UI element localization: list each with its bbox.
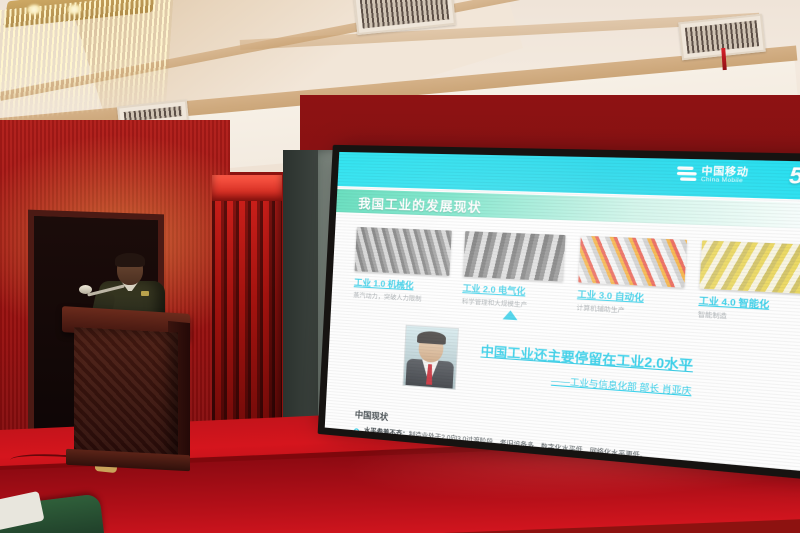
era-thumbnail-3 [578,236,687,288]
era-thumbnail-1 [355,227,452,276]
quote-text: 中国工业还主要停留在工业2.0水平 [480,340,693,375]
speaker-hair [115,253,145,267]
conference-hall-photo: 中国移动 China Mobile 5G+ 我国工业的发展现状 工业 1.0 机… [0,0,800,533]
current-level-arrow-icon [503,310,518,320]
slide-title: 我国工业的发展现状 [358,193,483,216]
five-g-text: 5G [788,163,800,190]
curtain-valance [212,175,282,201]
presentation-slide: 中国移动 China Mobile 5G+ 我国工业的发展现状 工业 1.0 机… [325,152,800,473]
era-item-4: 工业 4.0 智能化 智能制造 [698,240,800,325]
official-portrait [402,325,459,390]
china-mobile-logo: 中国移动 China Mobile [676,164,749,187]
projection-screen: 中国移动 China Mobile 5G+ 我国工业的发展现状 工业 1.0 机… [325,152,800,473]
era-item-3: 工业 3.0 自动化 计算机辅助生产 [576,236,686,319]
era-item-2: 工业 2.0 电气化 科学管理和大规模生产 [462,231,566,311]
uniform-insignia [141,291,149,296]
china-mobile-mark-icon [676,164,697,185]
era-thumbnail-2 [463,231,566,282]
quote-attribution: ——工业与信息化部 部长 肖亚庆 [479,369,692,398]
brand-name-en: China Mobile [701,177,749,184]
column-shadow [283,150,319,450]
microphone-head [79,285,92,294]
era-item-1: 工业 1.0 机械化 蒸汽动力，突破人力限制 [353,227,452,305]
five-g-badge: 5G+ [788,163,800,191]
podium-body [74,327,178,462]
era-thumbnail-4 [699,240,800,294]
red-stage-curtain [212,178,282,446]
